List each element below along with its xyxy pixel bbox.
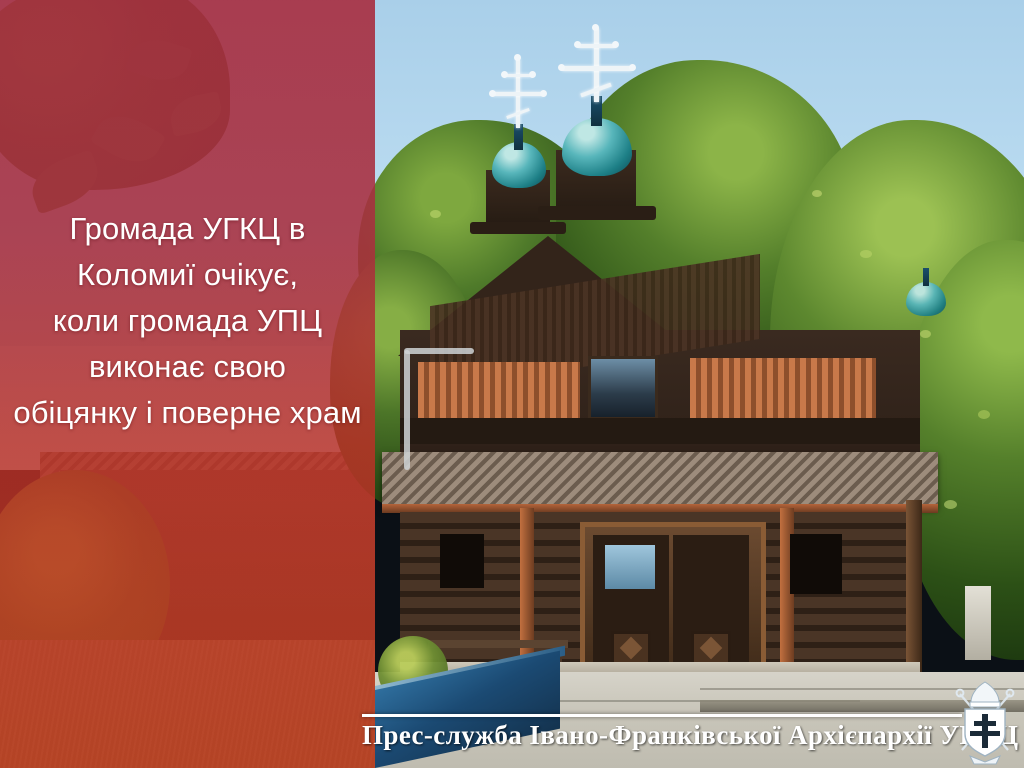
leaf-highlight [920,330,931,338]
shingle-band [690,358,876,392]
upper-window [588,356,658,420]
door-glass [605,545,655,589]
caption-bar: Прес-служба Івано-Франківської Архієпарх… [362,714,962,758]
stone-post [965,586,991,660]
leaf-highlight [812,190,822,197]
roof-shadow-band [400,418,920,444]
onion-dome-distant [906,282,946,316]
leaf-highlight [978,410,990,419]
dome-eave [538,206,656,220]
shingle-band [690,388,876,418]
downpipe-arm [404,348,474,354]
caption-divider [362,714,962,717]
door-diamond-ornament [620,637,643,660]
leaf-highlight [860,250,872,258]
slide-canvas: Громада УГКЦ в Коломиї очікує, коли гром… [0,0,1024,768]
door-leaf-left [593,535,669,679]
bench [428,640,568,648]
side-window [790,534,842,594]
door-leaf-right [673,535,749,679]
dome-neck [923,268,929,286]
dome-eave [470,222,566,234]
leaf-highlight [944,500,957,509]
door-diamond-ornament [700,637,723,660]
shingle-band [418,362,580,396]
side-window [440,534,484,588]
door-panel [611,631,651,665]
headline-text: Громада УГКЦ в Коломиї очікує, коли гром… [0,206,375,436]
corner-post [906,500,922,686]
downpipe [404,350,410,470]
caption-credit: Прес-служба Івано-Франківської Архієпарх… [362,720,962,751]
coat-of-arms-icon [946,676,1024,768]
leaf-highlight [430,210,441,218]
door-panel [691,631,731,665]
porch-roof [382,452,938,508]
